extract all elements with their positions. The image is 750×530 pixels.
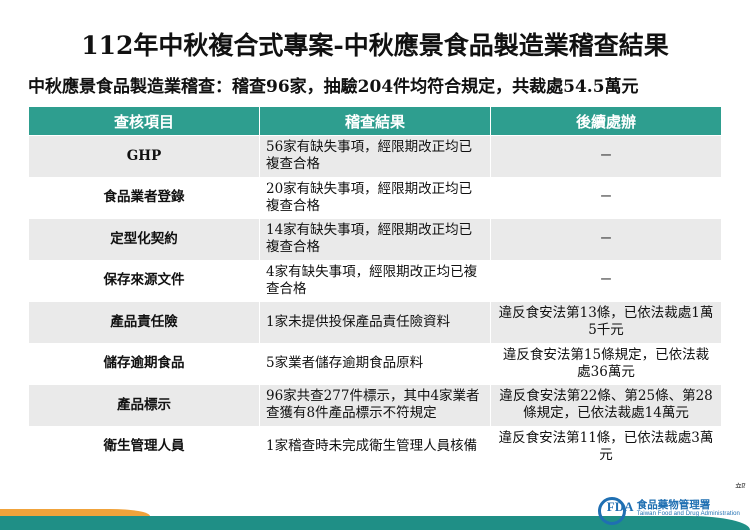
cell-item: 食品業者登錄 — [29, 177, 260, 219]
table-row: 保存來源文件 4家有缺失事項，經限期改正均已複查合格 － — [29, 260, 722, 302]
table-row: 儲存逾期食品 5家業者儲存逾期食品原料 違反食安法第15條規定，已依法裁處36萬… — [29, 343, 722, 385]
cell-result: 1家未提供投保產品責任險資料 — [260, 302, 491, 344]
footer-accent-orange — [0, 509, 150, 516]
cell-result: 96家共查277件標示，其中4家業者查獲有8件產品標示不符規定 — [260, 385, 491, 427]
table-row: 衛生管理人員 1家稽查時未完成衛生管理人員核備 違反食安法第11條，已依法裁處3… — [29, 426, 722, 468]
cell-result: 5家業者儲存逾期食品原料 — [260, 343, 491, 385]
cell-follow: － — [491, 219, 722, 261]
cell-result: 14家有缺失事項，經限期改正均已複查合格 — [260, 219, 491, 261]
cell-follow: － — [491, 260, 722, 302]
cell-item: 產品責任險 — [29, 302, 260, 344]
cell-result: 1家稽查時未完成衛生管理人員核備 — [260, 426, 491, 468]
fda-monogram: FDA — [607, 499, 634, 515]
cell-item: 衛生管理人員 — [29, 426, 260, 468]
cell-result: 56家有缺失事項，經限期改正均已複查合格 — [260, 136, 491, 178]
fda-emblem-icon: FDA — [598, 496, 632, 522]
column-header-follow: 後續處辦 — [491, 107, 722, 136]
table-row: GHP 56家有缺失事項，經限期改正均已複查合格 － — [29, 136, 722, 178]
inspection-results-table: 查核項目 稽查結果 後續處辦 GHP 56家有缺失事項，經限期改正均已複查合格 … — [28, 106, 722, 468]
table-row: 食品業者登錄 20家有缺失事項，經限期改正均已複查合格 － — [29, 177, 722, 219]
table-row: 定型化契約 14家有缺失事項，經限期改正均已複查合格 － — [29, 219, 722, 261]
cell-item: 保存來源文件 — [29, 260, 260, 302]
cell-follow: － — [491, 136, 722, 178]
cell-item: GHP — [29, 136, 260, 178]
fda-names: 食品藥物管理署 Taiwan Food and Drug Administrat… — [637, 500, 740, 517]
table-row: 產品標示 96家共查277件標示，其中4家業者查獲有8件產品標示不符規定 違反食… — [29, 385, 722, 427]
cell-item: 產品標示 — [29, 385, 260, 427]
cell-follow: － — [491, 177, 722, 219]
table-header-row: 查核項目 稽查結果 後續處辦 — [29, 107, 722, 136]
column-header-item: 查核項目 — [29, 107, 260, 136]
cell-item: 定型化契約 — [29, 219, 260, 261]
column-header-result: 稽查結果 — [260, 107, 491, 136]
cell-follow: 違反食安法第13條，已依法裁處1萬5千元 — [491, 302, 722, 344]
cell-item: 儲存逾期食品 — [29, 343, 260, 385]
page-title: 112年中秋複合式專案-中秋應景食品製造業稽查結果 — [0, 26, 750, 62]
cell-result: 20家有缺失事項，經限期改正均已複查合格 — [260, 177, 491, 219]
cell-follow: 違反食安法第15條規定，已依法裁處36萬元 — [491, 343, 722, 385]
table-row: 產品責任險 1家未提供投保產品責任險資料 違反食安法第13條，已依法裁處1萬5千… — [29, 302, 722, 344]
summary-subtitle: 中秋應景食品製造業稽查：稽查96家，抽驗204件均符合規定，共裁處54.5萬元 — [28, 72, 740, 97]
slide-root: 112年中秋複合式專案-中秋應景食品製造業稽查結果 中秋應景食品製造業稽查：稽查… — [0, 0, 750, 530]
fda-logo: FDA 食品藥物管理署 Taiwan Food and Drug Adminis… — [598, 496, 740, 522]
fda-name-english: Taiwan Food and Drug Administration — [637, 511, 740, 517]
cell-result: 4家有缺失事項，經限期改正均已複查合格 — [260, 260, 491, 302]
cell-follow: 違反食安法第11條，已依法裁處3萬元 — [491, 426, 722, 468]
fda-name-chinese: 食品藥物管理署 — [637, 500, 740, 511]
cell-follow: 違反食安法第22條、第25條、第28條規定，已依法裁處14萬元 — [491, 385, 722, 427]
